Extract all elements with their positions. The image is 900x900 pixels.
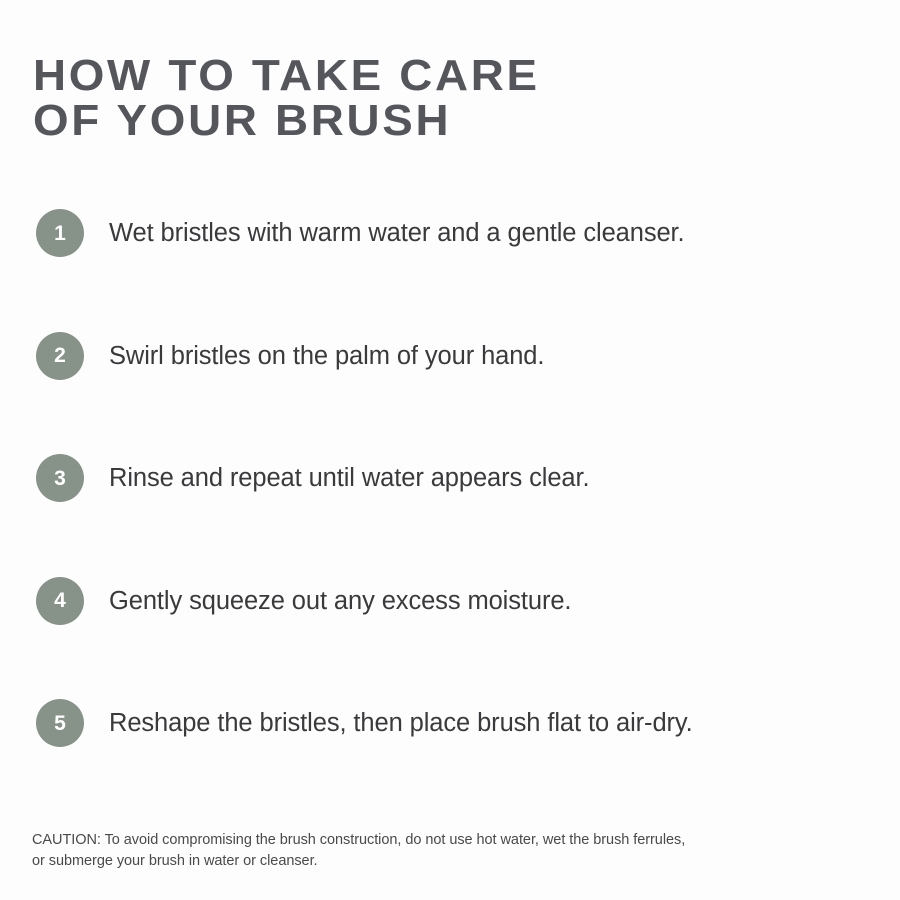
step-number-label: 1 <box>54 223 66 244</box>
step-instruction-text: Reshape the bristles, then place brush f… <box>109 708 693 738</box>
list-item: 1 Wet bristles with warm water and a gen… <box>0 172 900 295</box>
care-instructions-card: HOW TO TAKE CARE OF YOUR BRUSH 1 Wet bri… <box>0 0 900 900</box>
list-item: 3 Rinse and repeat until water appears c… <box>0 417 900 540</box>
step-number-label: 2 <box>54 345 66 366</box>
caution-line-2: or submerge your brush in water or clean… <box>32 851 832 872</box>
step-instruction-text: Wet bristles with warm water and a gentl… <box>109 218 685 248</box>
page-title: HOW TO TAKE CARE OF YOUR BRUSH <box>33 53 886 143</box>
caution-note: CAUTION: To avoid compromising the brush… <box>32 830 832 872</box>
list-item: 4 Gently squeeze out any excess moisture… <box>0 540 900 663</box>
steps-list: 1 Wet bristles with warm water and a gen… <box>0 172 900 785</box>
list-item: 2 Swirl bristles on the palm of your han… <box>0 295 900 418</box>
step-number-label: 4 <box>54 590 66 611</box>
step-instruction-text: Rinse and repeat until water appears cle… <box>109 463 590 493</box>
step-instruction-text: Gently squeeze out any excess moisture. <box>109 586 571 616</box>
step-number-badge: 1 <box>36 209 84 257</box>
step-number-badge: 2 <box>36 332 84 380</box>
caution-line-1: CAUTION: To avoid compromising the brush… <box>32 830 832 851</box>
list-item: 5 Reshape the bristles, then place brush… <box>0 662 900 785</box>
step-number-badge: 4 <box>36 577 84 625</box>
step-number-badge: 5 <box>36 699 84 747</box>
step-instruction-text: Swirl bristles on the palm of your hand. <box>109 341 544 371</box>
step-number-label: 5 <box>54 713 66 734</box>
step-number-badge: 3 <box>36 454 84 502</box>
step-number-label: 3 <box>54 468 66 489</box>
